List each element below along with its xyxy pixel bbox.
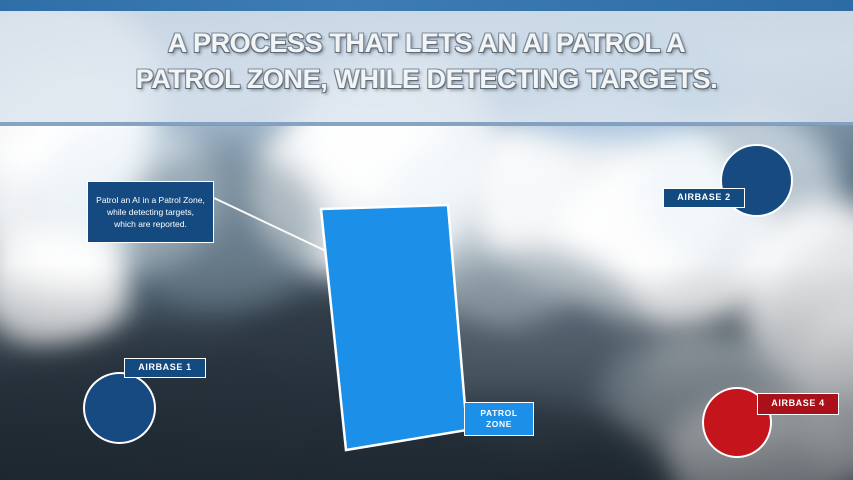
title-band-bottom-rule (0, 122, 853, 126)
top-accent-bar (0, 0, 853, 11)
patrol-zone-polygon[interactable] (321, 205, 467, 450)
callout-text: Patrol an AI in a Patrol Zone, while det… (91, 194, 210, 231)
slide-canvas: Patrol an AI in a Patrol Zone, while det… (0, 0, 853, 480)
patrol-zone-label[interactable]: PATROL ZONE (464, 402, 534, 436)
airbase-1-marker[interactable] (83, 372, 156, 444)
airbase-4-label[interactable]: AIRBASE 4 (757, 393, 839, 415)
airbase-1-label[interactable]: AIRBASE 1 (124, 358, 206, 378)
airbase-2-label[interactable]: AIRBASE 2 (663, 188, 745, 208)
callout-box[interactable]: Patrol an AI in a Patrol Zone, while det… (87, 181, 214, 243)
page-title: A PROCESS THAT LETS AN AI PATROL A PATRO… (0, 26, 853, 97)
